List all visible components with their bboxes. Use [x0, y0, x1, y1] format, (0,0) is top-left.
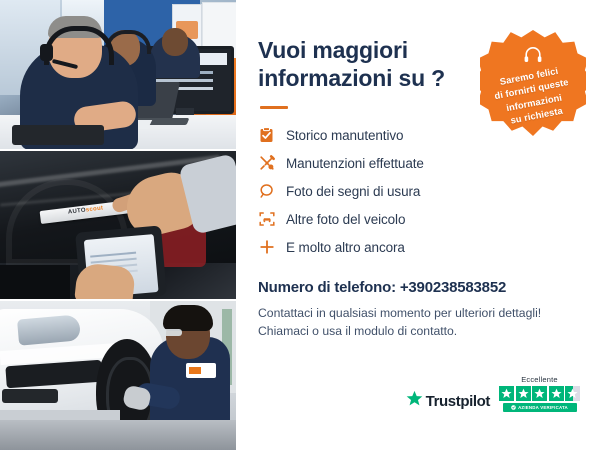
title-divider: [260, 106, 288, 109]
feature-label: E molto altro ancora: [286, 240, 405, 255]
trustpilot-widget[interactable]: Trustpilot Eccellente AZIENDA VERIFICATA: [406, 375, 580, 412]
feature-label: Storico manutentivo: [286, 128, 403, 143]
star-partial-5: [565, 386, 580, 401]
clipboard-check-icon: [258, 127, 275, 144]
photo-technician-measuring-dark-car-with-ruler-and-tablet: AUTOscout: [0, 151, 236, 299]
mechanic-hair: [163, 305, 213, 331]
photo-column: AUTOscout: [0, 0, 236, 450]
content-panel: Vuoi maggiori informazioni su ? Storico …: [236, 0, 600, 450]
plus-icon: [258, 239, 275, 256]
workshop-floor: [0, 420, 236, 450]
star-filled-2: [516, 386, 531, 401]
lower-grille: [2, 389, 58, 403]
trustpilot-rating-block: Eccellente AZIENDA VERIFICATA: [499, 375, 580, 412]
feature-label: Altre foto del veicolo: [286, 212, 405, 227]
headset-icon: [523, 46, 543, 69]
desk-mat: [12, 125, 104, 145]
tools-cross-icon: [258, 155, 275, 172]
phone-label: Numero di telefono:: [258, 279, 396, 296]
verified-check-icon: [511, 405, 516, 411]
uniform-logo-badge: [186, 363, 216, 378]
verified-label: AZIENDA VERIFICATA: [518, 405, 568, 410]
page-title: Vuoi maggiori informazioni su ?: [258, 0, 458, 92]
trustpilot-stars: [499, 386, 580, 401]
star-filled-3: [532, 386, 547, 401]
trustpilot-star-icon: [406, 390, 423, 412]
verified-company-badge: AZIENDA VERIFICATA: [503, 403, 577, 412]
contact-subtext-line-1: Contattaci in qualsiasi momento per ulte…: [258, 305, 578, 323]
phone-number[interactable]: +390238583852: [400, 279, 506, 296]
background-colleague-2-head: [162, 28, 188, 56]
safety-glasses: [160, 329, 182, 336]
page-title-line-2: informazioni su ?: [258, 65, 445, 91]
feature-list: Storico manutentivo Manutenzioni effettu…: [258, 121, 578, 261]
feature-label: Manutenzioni effettuate: [286, 156, 424, 171]
photo-mechanic-inspecting-white-car-wheel: [0, 301, 236, 450]
contact-subtext-line-2: Chiamaci o usa il modulo di contatto.: [258, 323, 578, 341]
feature-label: Foto dei segni di usura: [286, 184, 420, 199]
feature-item-vehicle-photos[interactable]: Altre foto del veicolo: [258, 205, 578, 233]
star-filled-1: [499, 386, 514, 401]
car-scan-frame-icon: [258, 211, 275, 228]
promo-starburst-badge: Saremo felici di fornirti queste informa…: [480, 30, 586, 136]
headset-earcup: [40, 44, 53, 61]
trustpilot-name: Trustpilot: [426, 393, 490, 410]
feature-item-wear-photos[interactable]: Foto dei segni di usura: [258, 177, 578, 205]
ruler-brand-text: AUTOscout: [68, 205, 104, 215]
feature-item-maintenance-done[interactable]: Manutenzioni effettuate: [258, 149, 578, 177]
trustpilot-rating-label: Eccellente: [521, 375, 558, 384]
star-filled-4: [549, 386, 564, 401]
contact-subtext: Contattaci in qualsiasi momento per ulte…: [258, 305, 578, 340]
page-title-line-1: Vuoi maggiori: [258, 37, 408, 63]
magnifier-icon: [258, 183, 275, 200]
photo-call-center-agents-with-headsets: [0, 0, 236, 149]
advertisement-banner: AUTOscout: [0, 0, 600, 450]
feature-item-much-more[interactable]: E molto altro ancora: [258, 233, 578, 261]
trustpilot-logo[interactable]: Trustpilot: [406, 390, 490, 412]
phone-line[interactable]: Numero di telefono: +390238583852: [258, 279, 578, 296]
shadow-area: [0, 265, 70, 299]
